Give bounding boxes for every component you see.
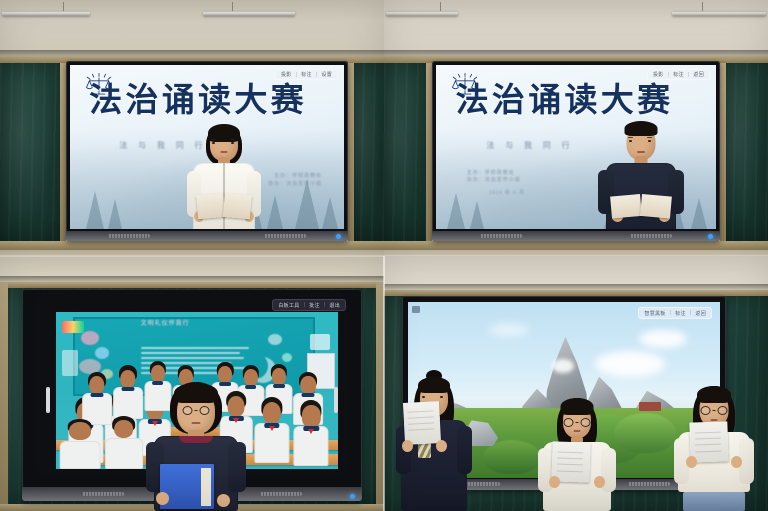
smart-board-chin	[432, 231, 720, 241]
mountain-hut	[639, 402, 661, 411]
board-frame-left	[0, 282, 8, 511]
power-led-icon	[708, 234, 713, 239]
pupil	[104, 416, 143, 469]
slide-meta-1: 主办：学校政教处	[467, 170, 525, 178]
board-mini-icon[interactable]	[412, 306, 420, 313]
smart-board[interactable]: 法治诵读大赛 法 与 我 同 行 主办：学校政教处 协办：法治宣传小组 2024…	[432, 61, 720, 241]
osd-item-1[interactable]: 标注	[301, 71, 312, 78]
osd-item-1[interactable]: 批注	[309, 302, 320, 309]
photo-collage: 法治诵读大赛 法 与 我 同 行 主办：学校政教处 协办：法治宣传小组 投影 |…	[0, 0, 768, 511]
osd-item-2[interactable]: 退出	[329, 302, 340, 309]
open-book	[610, 194, 672, 216]
panel-top-right: 法治诵读大赛 法 与 我 同 行 主办：学校政教处 协办：法治宣传小组 2024…	[384, 0, 768, 256]
ceiling-light	[203, 11, 295, 16]
shirt-collar	[179, 436, 213, 443]
smart-board-screen: 法治诵读大赛 法 与 我 同 行 主办：学校政教处 协办：法治宣传小组 投影 |…	[70, 65, 344, 229]
person-male-student	[596, 120, 686, 229]
smart-board-chin	[66, 231, 348, 241]
board-frame-bottom	[0, 241, 384, 250]
script-paper	[689, 421, 728, 462]
power-led-icon	[336, 234, 341, 239]
pupil	[59, 419, 101, 469]
osd-item-1[interactable]: 标注	[675, 310, 686, 317]
pupil	[112, 365, 143, 418]
jeans	[683, 492, 745, 511]
slide-meta-2: 协办：法治宣传小组	[467, 177, 525, 185]
panel-bottom-right: 智慧黑板 | 标注 | 返回	[384, 256, 768, 511]
script-paper	[403, 401, 441, 445]
smart-board-screen: 法治诵读大赛 法 与 我 同 行 主办：学校政教处 协办：法治宣传小组 2024…	[436, 65, 716, 229]
presentation-slide: 法治诵读大赛 法 与 我 同 行 主办：学校政教处 协办：法治宣传小组 投影 |…	[70, 65, 344, 229]
glasses-icon	[564, 418, 591, 427]
ceiling-light	[672, 11, 766, 16]
osd-item-2[interactable]: 设置	[321, 71, 332, 78]
osd-item-0[interactable]: 投影	[281, 71, 292, 78]
osd-item-0[interactable]: 白板工具	[278, 302, 299, 309]
ceiling-light	[386, 11, 458, 16]
board-osd-toolbar[interactable]: 投影 | 标注 | 设置	[275, 69, 338, 80]
person-student-center	[538, 396, 616, 511]
side-button[interactable]	[334, 387, 338, 413]
side-button[interactable]	[46, 387, 50, 413]
board-frame	[720, 58, 726, 246]
blue-folder	[160, 464, 214, 509]
open-book	[196, 193, 252, 217]
smart-board[interactable]: 法治诵读大赛 法 与 我 同 行 主办：学校政教处 协办：法治宣传小组 投影 |…	[66, 61, 348, 241]
panel-top-left: 法治诵读大赛 法 与 我 同 行 主办：学校政教处 协办：法治宣传小组 投影 |…	[0, 0, 384, 256]
power-led-icon	[350, 494, 355, 499]
slide-title: 法治诵读大赛	[89, 85, 333, 118]
board-frame	[348, 58, 354, 246]
chalkboard-right	[352, 60, 384, 242]
presentation-slide: 法治诵读大赛 法 与 我 同 行 主办：学校政教处 协办：法治宣传小组 2024…	[436, 65, 716, 229]
chalkboard-left	[384, 60, 428, 242]
osd-item-3[interactable]: 返回	[695, 310, 706, 317]
board-frame-top	[0, 282, 384, 288]
pupil	[293, 400, 330, 466]
person-student-left	[396, 374, 472, 511]
glasses-icon	[183, 406, 210, 415]
glasses-icon	[701, 406, 728, 415]
slide-title: 法治诵读大赛	[456, 85, 705, 118]
slide-meta-3: 2024 年 6 月	[489, 190, 525, 198]
osd-item-3[interactable]: 返回	[693, 71, 704, 78]
board-frame-bottom	[384, 241, 768, 250]
pupil	[253, 397, 290, 463]
panel-bottom-left: 文明礼仪伴我行	[0, 256, 384, 511]
slide-meta-1: 主办：学校政教处	[268, 173, 322, 181]
photo-chalkboard-title: 文明礼仪伴我行	[141, 318, 190, 327]
chalkboard-right	[724, 60, 768, 242]
osd-label[interactable]: 智慧黑板	[644, 310, 665, 317]
person-student-right	[674, 384, 754, 511]
board-osd-toolbar[interactable]: 智慧黑板 | 标注 | 返回	[638, 307, 712, 319]
collage-divider-horizontal	[0, 255, 768, 256]
person-female-presenter	[182, 123, 266, 229]
ceiling-light	[2, 11, 90, 16]
chalkboard-left	[0, 60, 62, 242]
collage-divider-vertical	[383, 256, 385, 511]
person-teacher-with-folder	[146, 382, 246, 511]
slide-meta-2: 协办：法治宣传小组	[268, 181, 322, 189]
board-osd-toolbar[interactable]: 投影 | 标注 | 返回	[647, 69, 710, 80]
board-osd-toolbar[interactable]: 白板工具 | 批注 | 退出	[272, 299, 346, 311]
osd-item-1[interactable]: 标注	[673, 71, 684, 78]
osd-item-0[interactable]: 投影	[653, 71, 664, 78]
